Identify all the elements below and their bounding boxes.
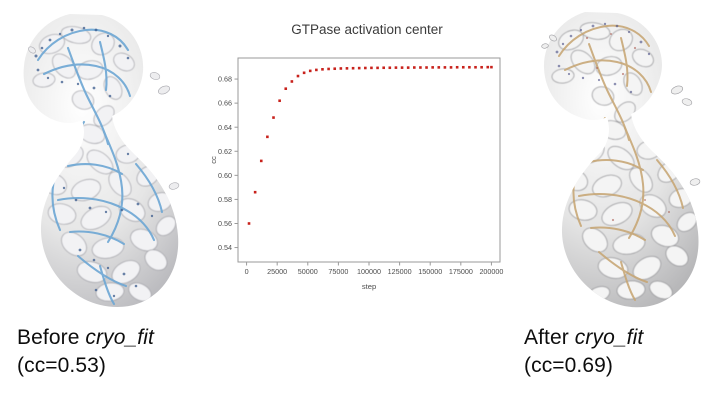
density-surface-before [8,4,203,319]
caption-before: Before cryo_fit (cc=0.53) [17,324,154,380]
data-point [272,116,275,119]
structure-image-after [527,4,720,319]
data-point [486,66,489,69]
data-point [346,67,349,70]
x-tick-label: 125000 [388,267,412,276]
structure-image-before [8,4,203,319]
data-point [431,66,434,69]
x-tick-label: 75000 [328,267,348,276]
y-axis-label: cc [209,156,218,164]
data-point [462,66,465,69]
data-point [284,87,287,90]
data-point [260,160,263,163]
cc-vs-step-chart: GTPase activation center 0.540.560.580.6… [205,12,510,302]
data-point [291,80,294,83]
caption-after-italic: cryo_fit [575,326,644,349]
y-tick-label: 0.54 [218,243,232,252]
density-surface-after [527,4,720,319]
caption-after-prefix: After [524,326,575,349]
x-tick-label: 50000 [298,267,318,276]
plot-frame [238,58,500,262]
caption-after-cc: (cc=0.69) [524,352,643,380]
data-point [382,66,385,69]
data-point [437,66,440,69]
data-point [321,68,324,71]
y-tick-label: 0.64 [218,123,232,132]
data-point [389,66,392,69]
data-point [370,67,373,70]
caption-before-cc: (cc=0.53) [17,352,154,380]
data-point [376,67,379,70]
data-point [303,72,306,75]
data-point [407,66,410,69]
x-tick-label: 100000 [357,267,381,276]
data-point [309,70,312,73]
data-point [401,66,404,69]
data-point [395,66,398,69]
x-axis-label: step [362,282,376,291]
data-point [419,66,422,69]
data-point [248,222,251,225]
data-point [480,66,483,69]
caption-after: After cryo_fit (cc=0.69) [524,324,643,380]
data-point [352,67,355,70]
data-point [278,99,281,102]
data-point [297,75,300,78]
data-point [413,66,416,69]
y-axis-ticks: 0.540.560.580.600.620.640.660.68 [218,75,238,252]
data-point [474,66,477,69]
x-axis-ticks: 0250005000075000100000125000150000175000… [245,262,504,276]
data-point [358,67,361,70]
x-tick-label: 0 [245,267,249,276]
data-point [333,67,336,70]
data-point [425,66,428,69]
data-point [456,66,459,69]
data-point [315,69,318,72]
data-point [450,66,453,69]
x-tick-label: 25000 [267,267,287,276]
data-point-series [248,66,493,225]
chart-title: GTPase activation center [291,22,443,37]
y-tick-label: 0.60 [218,171,232,180]
x-tick-label: 175000 [449,267,473,276]
data-point [444,66,447,69]
data-point [468,66,471,69]
x-tick-label: 200000 [479,267,503,276]
data-point [266,136,269,139]
y-tick-label: 0.68 [218,75,232,84]
y-tick-label: 0.58 [218,195,232,204]
data-point [327,68,330,71]
data-point [340,67,343,70]
y-tick-label: 0.66 [218,99,232,108]
x-tick-label: 150000 [418,267,442,276]
caption-before-prefix: Before [17,326,85,349]
data-point [254,191,257,194]
data-point [490,66,493,69]
y-tick-label: 0.62 [218,147,232,156]
caption-before-italic: cryo_fit [85,326,154,349]
data-point [364,67,367,70]
y-tick-label: 0.56 [218,219,232,228]
